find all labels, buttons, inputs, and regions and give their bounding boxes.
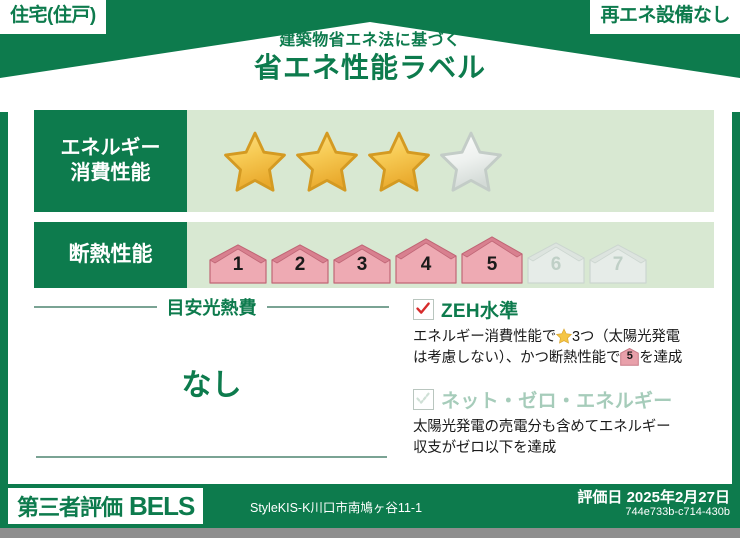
net-zero-energy-description: 太陽光発電の売電分も含めてエネルギー収支がゼロ以下を達成 [413,417,713,459]
evaluation-date: 評価日 2025年2月27日 [577,486,730,507]
panel-divider [400,298,402,464]
insulation-house-empty: 6 [527,242,585,284]
star-filled-icon [367,130,431,192]
zeh-description: エネルギー消費性能で3つ（太陽光発電は考慮しない）、かつ断熱性能で5を達成 [413,327,713,369]
insulation-level-scale: 1234567 [187,222,714,288]
utility-cost-rule-right [267,306,390,308]
star-filled-icon [223,130,287,192]
utility-cost-rule-left [34,306,157,308]
inline-star-icon [556,328,572,344]
utility-cost-value: なし [34,360,389,404]
insulation-performance-label: 断熱性能 [34,222,187,288]
zeh-desc-stars: 3つ（太陽光発電 [572,329,680,345]
insulation-house-filled: 4 [395,238,457,284]
net-zero-energy-checkbox[interactable] [413,389,434,410]
evaluation-id: 744e733b-c714-430b [625,506,730,518]
criteria-list: ZEH水準 エネルギー消費性能で3つ（太陽光発電は考慮しない）、かつ断熱性能で5… [413,296,713,459]
bels-jp-text: 第三者評価 [17,490,122,522]
criterion-net-zero-header: ネット・ゼロ・エネルギー [413,386,713,413]
zeh-title: ZEH水準 [441,296,519,323]
energy-performance-label-line1: エネルギー [61,136,161,161]
insulation-house-level: 5 [461,254,523,276]
inline-house-level: 5 [620,349,639,365]
bels-logo: 第三者評価 BELS [8,488,203,524]
net-zero-desc-line2: 収支がゼロ以下を達成 [413,440,556,456]
insulation-performance-row: 断熱性能 1234567 [34,222,714,288]
net-zero-desc-line1: 太陽光発電の売電分も含めてエネルギー [413,419,670,435]
insulation-house-empty: 7 [589,244,647,284]
criterion-zeh-header: ZEH水準 [413,296,713,323]
zeh-desc-part3: を達成 [639,350,682,366]
criterion-net-zero-energy: ネット・ゼロ・エネルギー 太陽光発電の売電分も含めてエネルギー収支がゼロ以下を達… [413,386,713,459]
insulation-house-filled: 2 [271,244,329,284]
utility-cost-title: 目安光熱費 [157,294,267,320]
utility-cost-header: 目安光熱費 [34,296,389,318]
energy-performance-label: エネルギー 消費性能 [34,110,187,212]
check-icon-disabled [415,391,431,407]
check-icon [415,301,431,317]
inline-house-icon: 5 [620,348,639,366]
label-footer: 第三者評価 BELS StyleKIS-K川口市南鳩ヶ谷11-1 評価日 202… [0,484,740,528]
label-body: エネルギー 消費性能 断熱性能 1234567 目安光熱費 なし [8,100,732,484]
net-zero-energy-title: ネット・ゼロ・エネルギー [441,386,673,413]
energy-performance-label-card: 住宅(住戸) 再エネ設備なし 建築物省エネ法に基づく 省エネ性能ラベル エネルギ… [0,0,740,528]
insulation-house-level: 7 [589,254,647,276]
insulation-house-filled: 1 [209,244,267,284]
energy-performance-row: エネルギー 消費性能 [34,110,714,212]
label-title: 省エネ性能ラベル [0,46,740,86]
insulation-house-level: 1 [209,254,267,276]
bels-en-text: BELS [129,491,194,522]
zeh-desc-part2: は考慮しない）、かつ断熱性能で [413,350,620,366]
criterion-zeh: ZEH水準 エネルギー消費性能で3つ（太陽光発電は考慮しない）、かつ断熱性能で5… [413,296,713,369]
insulation-house-filled: 3 [333,244,391,284]
energy-performance-label-line2: 消費性能 [71,161,151,186]
zeh-desc-part1: エネルギー消費性能で [413,329,556,345]
insulation-house-level: 6 [527,254,585,276]
insulation-house-filled: 5 [461,236,523,284]
utility-cost-block: 目安光熱費 なし [34,296,389,466]
utility-cost-bottom-rule [36,456,387,458]
insulation-house-level: 3 [333,254,391,276]
star-filled-icon [295,130,359,192]
star-rating [187,110,714,212]
property-address: StyleKIS-K川口市南鳩ヶ谷11-1 [250,497,422,516]
star-empty-icon [439,130,503,192]
zeh-checkbox[interactable] [413,299,434,320]
insulation-house-level: 4 [395,254,457,276]
insulation-house-level: 2 [271,254,329,276]
